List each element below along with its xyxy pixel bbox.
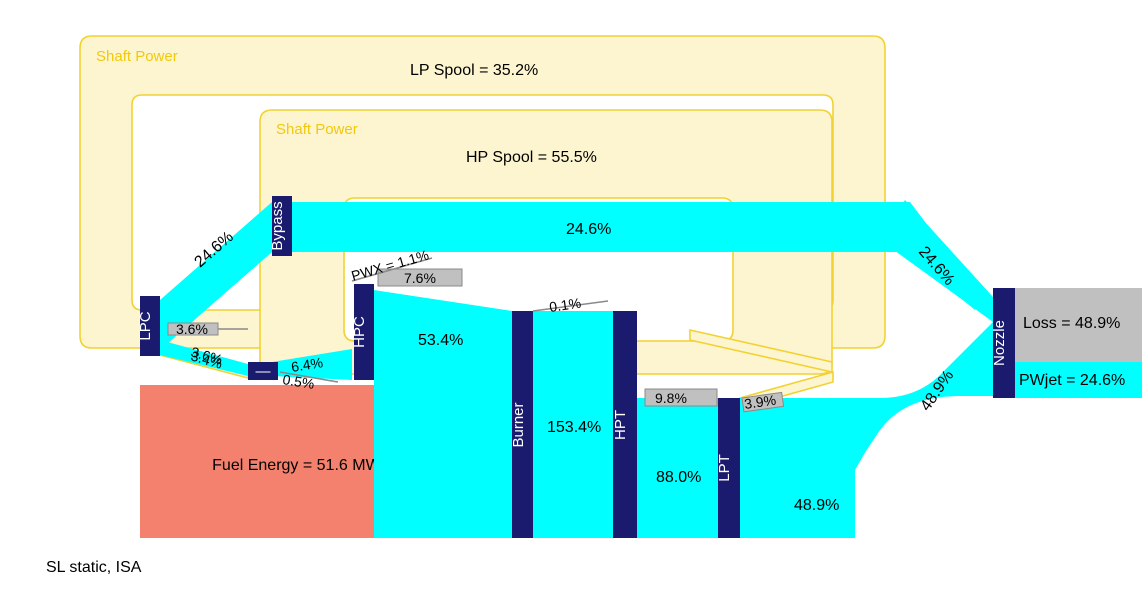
- hp-spool-shaft-power-title: Shaft Power: [276, 121, 358, 138]
- loss-label-lpc: 3.6%: [176, 321, 208, 337]
- output-loss-label: Loss = 48.9%: [1023, 315, 1120, 332]
- flow-label-bypass-main: 24.6%: [566, 221, 611, 238]
- flow-hpc-to-burner: [374, 290, 512, 538]
- hp-spool-value: HP Spool = 55.5%: [466, 149, 597, 166]
- node-label-nozzle: Nozzle: [991, 320, 1008, 366]
- flow-label-lpt-nozzle: 48.9%: [794, 497, 839, 514]
- sankey-diagram: Shaft Power LP Spool = 35.2% Shaft Power…: [0, 0, 1142, 603]
- flow-label-hpt-lpt: 88.0%: [656, 469, 701, 486]
- node-label-lpt: LPT: [716, 454, 733, 482]
- caption: SL static, ISA: [46, 559, 142, 576]
- node-label-burner: Burner: [510, 402, 527, 447]
- sankey-canvas: Shaft Power LP Spool = 35.2% Shaft Power…: [0, 0, 1142, 603]
- flow-label-burner-hpt: 153.4%: [547, 419, 601, 436]
- node-label-hpc: HPC: [351, 316, 368, 348]
- node-label-lpc: LPC: [137, 311, 154, 340]
- lp-spool-value: LP Spool = 35.2%: [410, 62, 538, 79]
- flow-label-hpc-burner: 53.4%: [418, 332, 463, 349]
- output-pwjet-label: PWjet = 24.6%: [1019, 372, 1125, 389]
- lp-spool-shaft-power-title: Shaft Power: [96, 48, 178, 65]
- loss-label-hpc: 7.6%: [404, 270, 436, 286]
- node-label-bypass: Bypass: [269, 201, 286, 250]
- node-label-duct: —: [256, 363, 271, 380]
- loss-label-hpt: 9.8%: [655, 390, 687, 406]
- flow-hpt-to-lpt: [637, 398, 718, 538]
- node-label-hpt: HPT: [612, 410, 629, 440]
- output-blocks: Loss = 48.9% PWjet = 24.6%: [1015, 288, 1142, 398]
